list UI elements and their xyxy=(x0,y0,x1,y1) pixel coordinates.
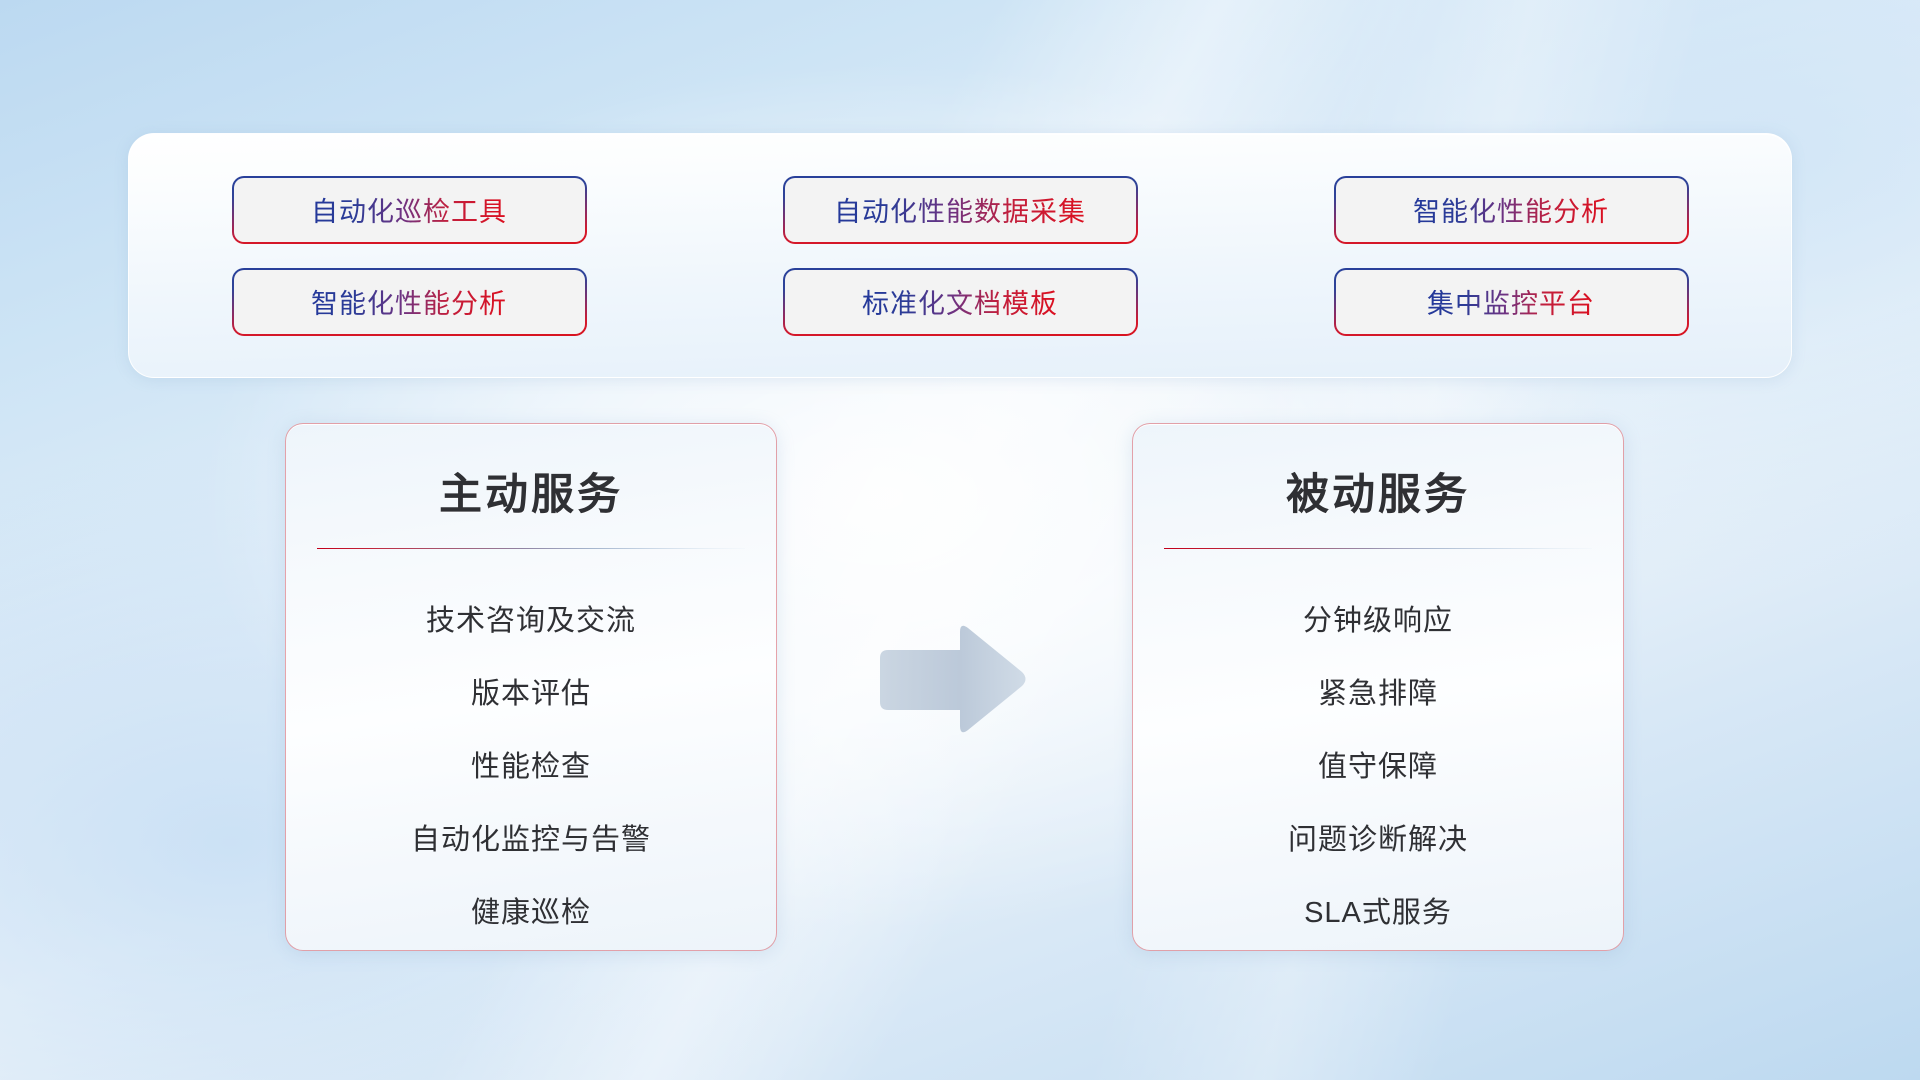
service-card-proactive: 主动服务 技术咨询及交流 版本评估 性能检查 自动化监控与告警 健康巡检 xyxy=(285,423,777,951)
capability-chip-intelligent-performance-analysis[interactable]: 智能化性能分析 xyxy=(1334,176,1689,244)
card-divider-shape xyxy=(1164,548,1592,549)
capability-chip-label: 自动化性能数据采集 xyxy=(834,190,1086,229)
card-divider xyxy=(317,548,745,549)
arrow-right-icon xyxy=(872,620,1030,740)
capability-panel: 自动化巡检工具 自动化性能数据采集 智能化性能分析 智能化性能分析 标准化文档模… xyxy=(128,133,1792,378)
slide-canvas: 自动化巡检工具 自动化性能数据采集 智能化性能分析 智能化性能分析 标准化文档模… xyxy=(0,0,1920,1080)
capability-chip-label: 自动化巡检工具 xyxy=(311,190,507,229)
list-item: 技术咨询及交流 xyxy=(426,585,636,658)
capability-chip-automated-inspection-tool[interactable]: 自动化巡检工具 xyxy=(232,176,587,244)
list-item: 值守保障 xyxy=(1318,731,1438,804)
card-title: 被动服务 xyxy=(1286,460,1470,522)
capability-chip-automated-performance-data-collection[interactable]: 自动化性能数据采集 xyxy=(783,176,1138,244)
card-item-list: 技术咨询及交流 版本评估 性能检查 自动化监控与告警 健康巡检 xyxy=(286,585,776,950)
capability-row-2: 智能化性能分析 标准化文档模板 集中监控平台 xyxy=(129,268,1791,336)
list-item: 自动化监控与告警 xyxy=(411,804,651,877)
capability-chip-label: 智能化性能分析 xyxy=(1413,190,1609,229)
capability-chip-centralized-monitoring-platform[interactable]: 集中监控平台 xyxy=(1334,268,1689,336)
capability-row-1: 自动化巡检工具 自动化性能数据采集 智能化性能分析 xyxy=(129,176,1791,244)
list-item: 性能检查 xyxy=(471,731,591,804)
card-item-list: 分钟级响应 紧急排障 值守保障 问题诊断解决 SLA式服务 xyxy=(1133,585,1623,950)
capability-chip-label: 标准化文档模板 xyxy=(862,282,1058,321)
card-divider xyxy=(1164,548,1592,549)
list-item: SLA式服务 xyxy=(1304,877,1452,950)
list-item: 问题诊断解决 xyxy=(1288,804,1468,877)
capability-chip-label: 集中监控平台 xyxy=(1427,282,1595,321)
list-item: 分钟级响应 xyxy=(1303,585,1453,658)
capability-chip-label: 智能化性能分析 xyxy=(311,282,507,321)
capability-chip-intelligent-performance-analysis-2[interactable]: 智能化性能分析 xyxy=(232,268,587,336)
card-divider-shape xyxy=(317,548,745,549)
card-title: 主动服务 xyxy=(439,460,623,522)
service-card-reactive: 被动服务 分钟级响应 紧急排障 值守保障 问题诊断解决 SLA式服务 xyxy=(1132,423,1624,951)
list-item: 版本评估 xyxy=(471,658,591,731)
list-item: 健康巡检 xyxy=(471,877,591,950)
list-item: 紧急排障 xyxy=(1318,658,1438,731)
capability-chip-standardized-document-template[interactable]: 标准化文档模板 xyxy=(783,268,1138,336)
